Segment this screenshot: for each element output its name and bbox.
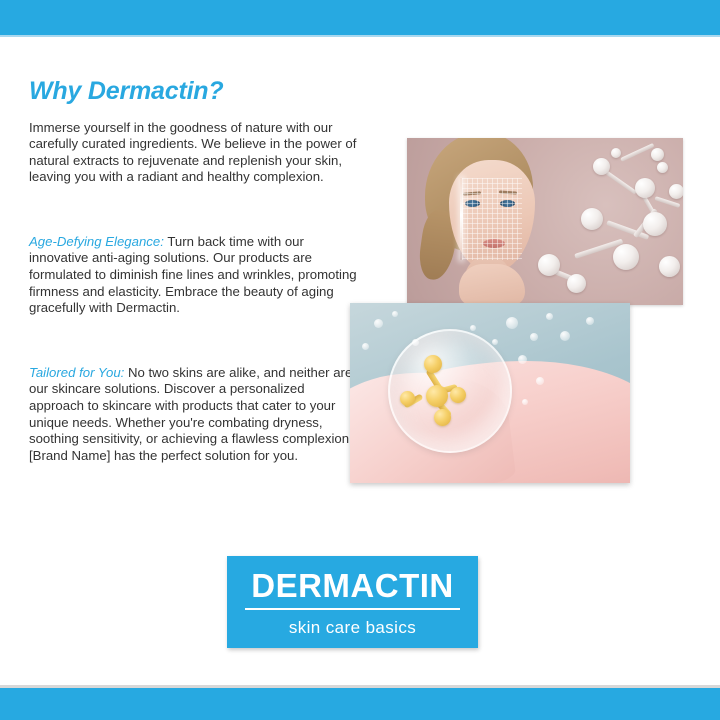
logo-wordmark: DERMACTIN [245, 569, 459, 610]
section-age-defying-lead-in: Age-Defying Elegance: [29, 234, 164, 249]
bottom-accent-bar [0, 688, 720, 720]
logo-tagline: skin care basics [289, 619, 416, 636]
brand-logo: DERMACTIN skin care basics [227, 556, 478, 648]
woman-facial-analysis-photo [407, 138, 683, 305]
section-age-defying: Age-Defying Elegance: Turn back time wit… [29, 234, 359, 317]
top-accent-bar [0, 0, 720, 35]
bubble [522, 399, 528, 405]
bubble [492, 339, 498, 345]
bubble [470, 325, 476, 331]
molecule-node [593, 158, 610, 175]
bubble [530, 333, 538, 341]
serum-sphere-photo [350, 303, 630, 483]
bubble [374, 319, 383, 328]
molecule-node [669, 184, 683, 199]
top-thin-rule [0, 35, 720, 37]
bubble [546, 313, 553, 320]
bubble [362, 343, 369, 350]
molecule-node [611, 148, 621, 158]
section-tailored-lead-in: Tailored for You: [29, 365, 124, 380]
molecule-node [651, 148, 664, 161]
bubble [560, 331, 570, 341]
intro-paragraph: Immerse yourself in the goodness of natu… [29, 120, 359, 186]
bubble [506, 317, 518, 329]
section-tailored-for-you: Tailored for You: No two skins are alike… [29, 365, 359, 465]
text-column: Why Dermactin? Immerse yourself in the g… [29, 78, 359, 464]
brochure-page: Why Dermactin? Immerse yourself in the g… [0, 0, 720, 720]
molecule-node [643, 212, 667, 236]
molecule-node [657, 162, 668, 173]
bubble [392, 311, 398, 317]
bubble [536, 377, 544, 385]
facial-scan-grid-overlay [462, 178, 522, 260]
bubble [518, 355, 527, 364]
gold-molecule-node [400, 391, 415, 406]
gold-molecule-node [450, 387, 466, 403]
molecule-node [635, 178, 655, 198]
gold-molecule-node [424, 355, 442, 373]
bubble [412, 339, 419, 346]
gold-molecule-node [434, 409, 451, 426]
molecule-node [659, 256, 680, 277]
gold-molecule-node [426, 385, 448, 407]
scan-light-bar [460, 178, 463, 260]
molecule-node [613, 244, 639, 270]
hand-shape [459, 264, 525, 305]
bubble [586, 317, 594, 325]
molecule-node [581, 208, 603, 230]
page-title: Why Dermactin? [29, 78, 359, 106]
molecule-node [567, 274, 586, 293]
molecule-node [538, 254, 560, 276]
